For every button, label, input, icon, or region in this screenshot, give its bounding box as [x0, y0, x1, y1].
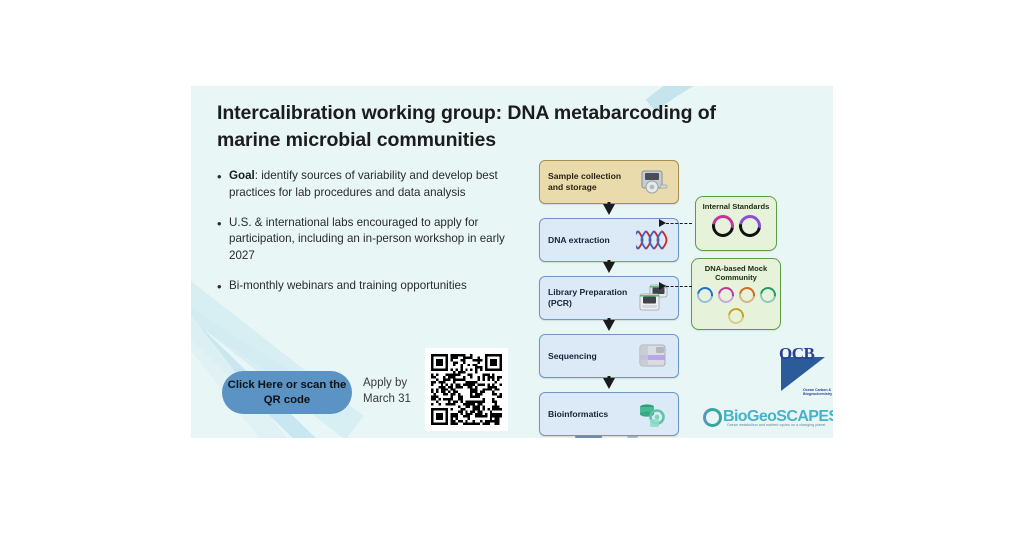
qr-code-canvas[interactable]: [431, 354, 502, 425]
dashed-arrow-icon: [659, 219, 666, 227]
bullet-lead: Goal: [229, 169, 255, 182]
list-item: • Goal: identify sources of variability …: [217, 168, 517, 202]
flow-step-5: Bioinformatics: [539, 392, 679, 436]
bullet-body: : identify sources of variability and de…: [229, 169, 498, 199]
dashed-arrow-icon: [659, 282, 666, 290]
flow-step-label: Sequencing: [548, 351, 636, 362]
plasmid-ring-icon: [734, 211, 765, 242]
plasmid-ring-icon: [725, 305, 747, 327]
slide-title: Intercalibration working group: DNA meta…: [217, 100, 777, 154]
apply-by-text: Apply by March 31: [363, 376, 433, 407]
data-gear-icon: [636, 400, 670, 428]
biogeoscapes-ring-icon: [703, 408, 722, 427]
plasmid-ring-icon: [714, 284, 736, 306]
bullet-dot: •: [217, 168, 229, 202]
plasmid-ring-icon: [707, 211, 738, 242]
plasmid-ring-icon: [735, 284, 757, 306]
plasmid-ring-group: [700, 215, 772, 237]
flow-step-label: Sample collection and storage: [548, 171, 636, 193]
bullet-text: Goal: identify sources of variability an…: [229, 168, 517, 202]
plasmid-ring-group: [696, 287, 776, 324]
click-here-button[interactable]: Click Here or scan the QR code: [222, 371, 352, 414]
peristaltic-pump-icon: [636, 168, 670, 196]
qr-code[interactable]: [425, 348, 508, 431]
dna-helix-icon: [636, 226, 670, 254]
flow-arrow-icon: [539, 320, 679, 334]
workflow-flowchart: Sample collection and storageDNA extract…: [539, 160, 679, 436]
dashed-connector: [666, 286, 692, 287]
ocb-logo: OCB Ocean Carbon & Biogeochemistry: [779, 344, 833, 396]
plasmid-ring-icon: [756, 284, 778, 306]
biogeoscapes-logo: BioGeoSCAPES Ocean metabolism and nutrie…: [703, 404, 833, 430]
flow-step-2: DNA extraction: [539, 218, 679, 262]
list-item: • U.S. & international labs encouraged t…: [217, 215, 517, 265]
flow-step-label: Bioinformatics: [548, 409, 636, 420]
flow-arrow-icon: [539, 204, 679, 218]
biogeoscapes-tagline: Ocean metabolism and nutrient cycles on …: [727, 423, 826, 427]
bullet-list: • Goal: identify sources of variability …: [217, 168, 517, 309]
ocb-logo-text: OCB: [779, 344, 814, 364]
mock-community-label: DNA-based Mock Community: [696, 264, 776, 283]
flow-step-4: Sequencing: [539, 334, 679, 378]
dashed-connector: [666, 223, 692, 224]
flow-step-3: Library Preparation (PCR): [539, 276, 679, 320]
list-item: • Bi-monthly webinars and training oppor…: [217, 278, 517, 296]
bullet-dot: •: [217, 278, 229, 296]
sequencer-icon: [636, 342, 670, 370]
flow-step-label: Library Preparation (PCR): [548, 287, 636, 309]
bullet-text: U.S. & international labs encouraged to …: [229, 215, 517, 265]
internal-standards-box: Internal Standards: [695, 196, 777, 251]
flow-arrow-icon: [539, 262, 679, 276]
flow-arrow-icon: [539, 378, 679, 392]
flow-step-1: Sample collection and storage: [539, 160, 679, 204]
ocb-logo-subtitle: Ocean Carbon & Biogeochemistry: [803, 388, 833, 397]
flow-step-label: DNA extraction: [548, 235, 636, 246]
bullet-text: Bi-monthly webinars and training opportu…: [229, 278, 467, 296]
mock-community-box: DNA-based Mock Community: [691, 258, 781, 330]
bullet-dot: •: [217, 215, 229, 265]
slide-canvas: Intercalibration working group: DNA meta…: [191, 86, 833, 438]
plasmid-ring-icon: [693, 284, 715, 306]
internal-standards-label: Internal Standards: [700, 202, 772, 211]
